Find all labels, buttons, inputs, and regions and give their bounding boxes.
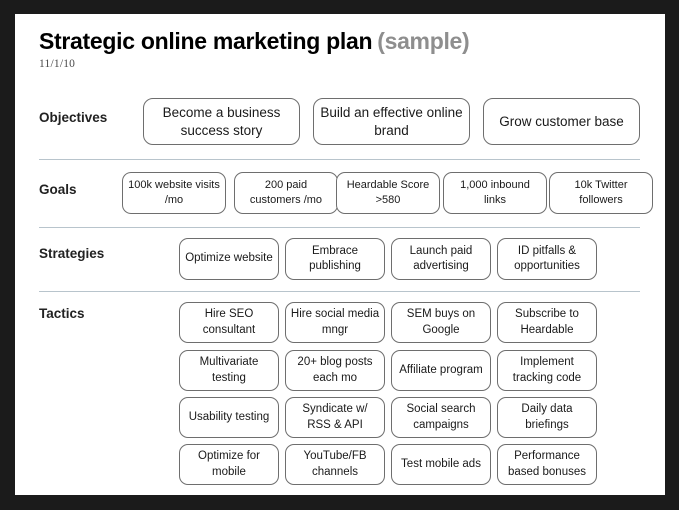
tactic-label: Hire SEO consultant: [184, 307, 274, 337]
tactic-box[interactable]: Syndicate w/ RSS & API: [285, 397, 385, 438]
section-label-goals: Goals: [39, 182, 77, 197]
tactic-label: Affiliate program: [396, 363, 486, 378]
tactic-label: Social search campaigns: [396, 402, 486, 432]
tactic-label: Subscribe to Heardable: [502, 307, 592, 337]
tactic-box[interactable]: Multivariate testing: [179, 350, 279, 391]
goal-label: 1,000 inbound links: [448, 178, 542, 207]
tactic-box[interactable]: YouTube/FB channels: [285, 444, 385, 485]
goal-label: 100k website visits /mo: [127, 178, 221, 207]
goal-label: Heardable Score >580: [341, 178, 435, 207]
strategy-label: Launch paid advertising: [396, 244, 486, 274]
tactic-label: Implement tracking code: [502, 355, 592, 385]
section-label-tactics: Tactics: [39, 306, 85, 321]
strategy-box[interactable]: Launch paid advertising: [391, 238, 491, 280]
section-divider: [39, 291, 640, 292]
tactic-box[interactable]: Daily data briefings: [497, 397, 597, 438]
tactic-label: 20+ blog posts each mo: [290, 355, 380, 385]
goal-box[interactable]: 1,000 inbound links: [443, 172, 547, 214]
slide-header: Strategic online marketing plan(sample) …: [39, 29, 469, 70]
section-label-objectives: Objectives: [39, 110, 107, 125]
page-title-suffix: (sample): [377, 28, 469, 54]
tactic-label: Usability testing: [184, 410, 274, 425]
tactic-box[interactable]: Hire SEO consultant: [179, 302, 279, 343]
slide-canvas: Strategic online marketing plan(sample) …: [15, 14, 665, 495]
tactic-label: Daily data briefings: [502, 402, 592, 432]
section-label-strategies: Strategies: [39, 246, 104, 261]
tactic-label: Optimize for mobile: [184, 449, 274, 479]
tactic-label: Performance based bonuses: [502, 449, 592, 479]
tactic-box[interactable]: Implement tracking code: [497, 350, 597, 391]
tactic-box[interactable]: Social search campaigns: [391, 397, 491, 438]
tactic-box[interactable]: Performance based bonuses: [497, 444, 597, 485]
tactic-label: SEM buys on Google: [396, 307, 486, 337]
strategy-label: Embrace publishing: [290, 244, 380, 274]
strategy-box[interactable]: Embrace publishing: [285, 238, 385, 280]
strategy-label: Optimize website: [184, 251, 274, 266]
tactic-box[interactable]: Test mobile ads: [391, 444, 491, 485]
objective-box[interactable]: Become a business success story: [143, 98, 300, 145]
objective-box[interactable]: Build an effective online brand: [313, 98, 470, 145]
strategy-label: ID pitfalls & opportunities: [502, 244, 592, 274]
goal-box[interactable]: Heardable Score >580: [336, 172, 440, 214]
page-title: Strategic online marketing plan(sample): [39, 29, 469, 53]
tactic-box[interactable]: SEM buys on Google: [391, 302, 491, 343]
page-title-main: Strategic online marketing plan: [39, 28, 372, 54]
tactic-box[interactable]: Affiliate program: [391, 350, 491, 391]
tactic-label: YouTube/FB channels: [290, 449, 380, 479]
tactic-box[interactable]: Optimize for mobile: [179, 444, 279, 485]
goal-box[interactable]: 10k Twitter followers: [549, 172, 653, 214]
goal-label: 10k Twitter followers: [554, 178, 648, 207]
goal-box[interactable]: 100k website visits /mo: [122, 172, 226, 214]
slide-date: 11/1/10: [39, 58, 469, 70]
strategy-box[interactable]: Optimize website: [179, 238, 279, 280]
tactic-label: Syndicate w/ RSS & API: [290, 402, 380, 432]
tactic-box[interactable]: Subscribe to Heardable: [497, 302, 597, 343]
tactic-box[interactable]: Hire social media mngr: [285, 302, 385, 343]
goal-box[interactable]: 200 paid customers /mo: [234, 172, 338, 214]
slide-frame: Strategic online marketing plan(sample) …: [0, 0, 679, 510]
tactic-label: Test mobile ads: [396, 457, 486, 472]
section-divider: [39, 159, 640, 160]
objective-label: Build an effective online brand: [318, 104, 465, 140]
tactic-label: Hire social media mngr: [290, 307, 380, 337]
tactic-box[interactable]: 20+ blog posts each mo: [285, 350, 385, 391]
strategy-box[interactable]: ID pitfalls & opportunities: [497, 238, 597, 280]
goal-label: 200 paid customers /mo: [239, 178, 333, 207]
tactic-box[interactable]: Usability testing: [179, 397, 279, 438]
objective-box[interactable]: Grow customer base: [483, 98, 640, 145]
objective-label: Grow customer base: [488, 113, 635, 131]
tactic-label: Multivariate testing: [184, 355, 274, 385]
objective-label: Become a business success story: [148, 104, 295, 140]
section-divider: [39, 227, 640, 228]
